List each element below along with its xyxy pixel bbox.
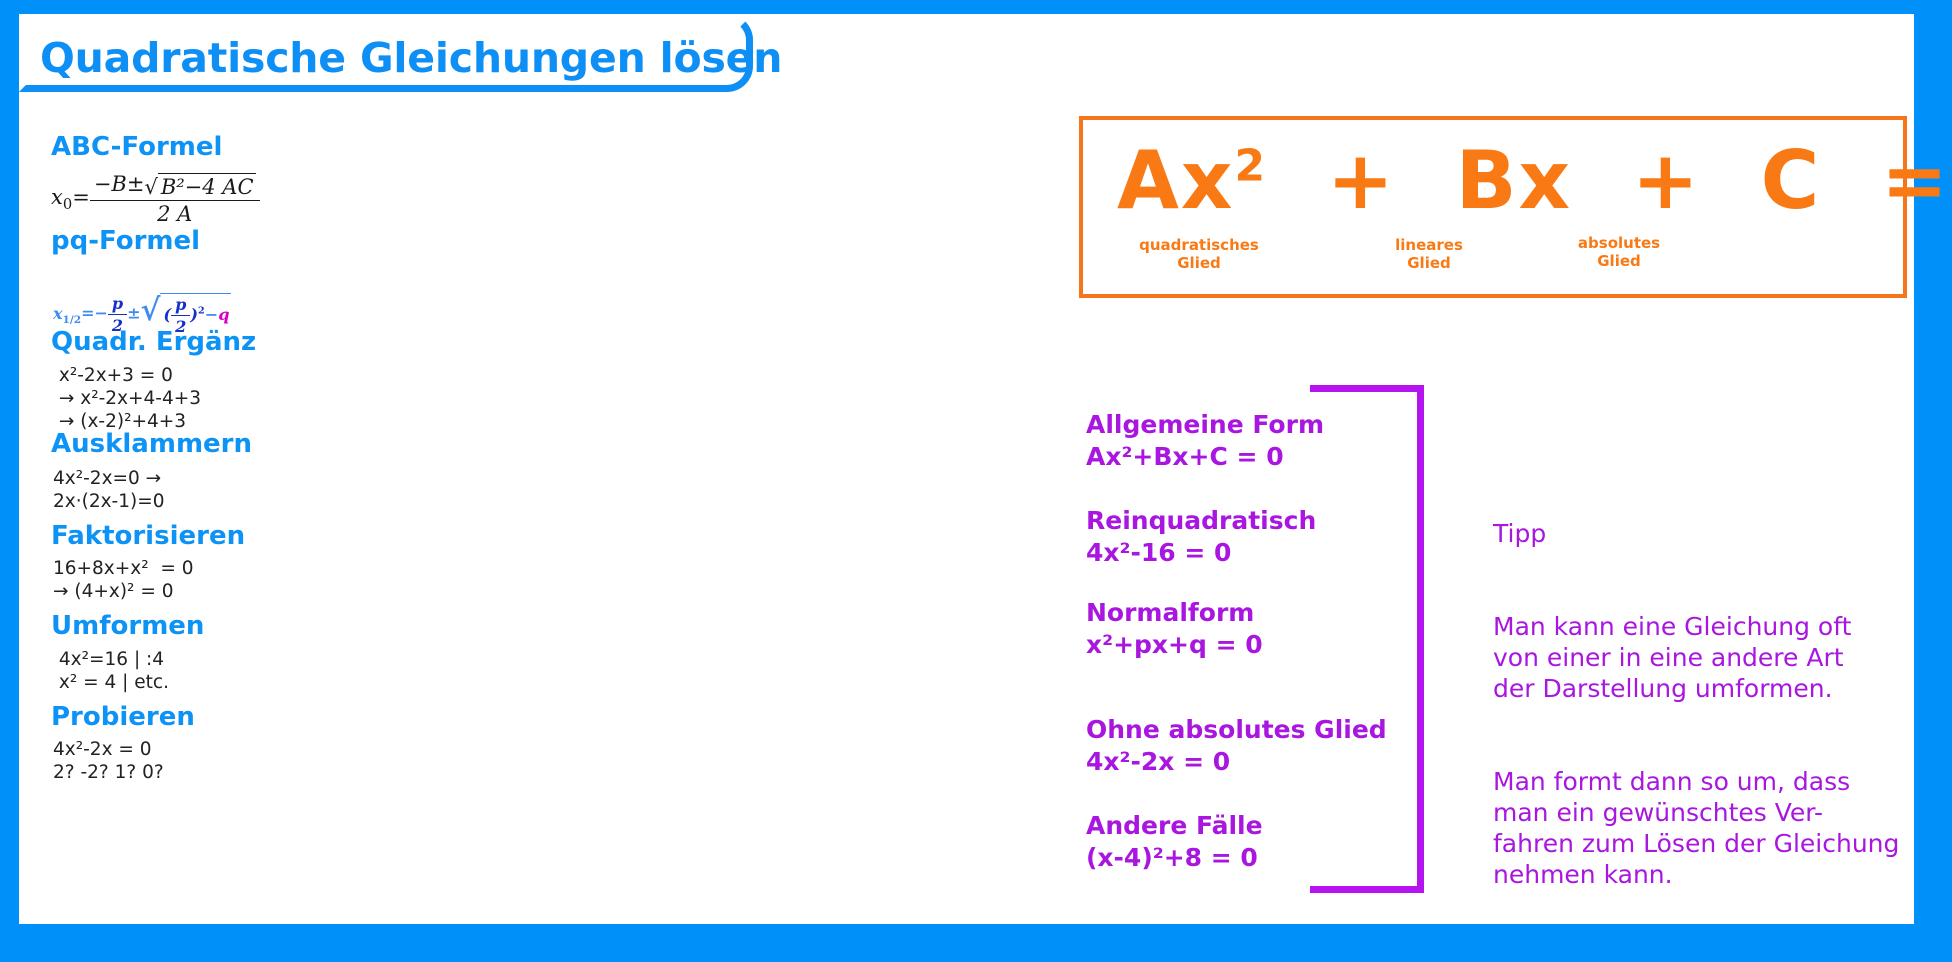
section-heading-umformen: Umformen	[51, 611, 204, 641]
poster-canvas: Quadratische Gleichungen lösen ABC-Forme…	[19, 14, 1914, 924]
section-heading-abc-formel: ABC-Formel	[51, 132, 222, 162]
label-absolutes-glied: absolutes Glied	[1519, 234, 1719, 270]
section-heading-ausklammern: Ausklammern	[51, 429, 252, 459]
pq-equals: =	[81, 304, 94, 323]
section-heading-pq-formel: pq-Formel	[51, 226, 200, 256]
pq-sign: −	[94, 304, 107, 323]
pq-lhs: x1/2	[53, 304, 81, 323]
section-body-quadr-ergaenz: x²-2x+3 = 0 → x²-2x+4-4+3 → (x-2)²+4+3	[53, 364, 201, 433]
tipp-paragraph-2: Man formt dann so um, dass man ein gewün…	[1493, 766, 1933, 890]
form-equation: 4x²-2x = 0	[1086, 746, 1387, 778]
page-title: Quadratische Gleichungen lösen	[40, 34, 782, 82]
tipp-title: Tipp	[1493, 518, 1933, 549]
form-item-allgemeine-form: Allgemeine Form Ax²+Bx+C = 0	[1086, 409, 1324, 473]
abc-formula: x0=−B±√B²−4 AC2 A	[51, 172, 260, 226]
form-equation: x²+px+q = 0	[1086, 629, 1263, 661]
form-equation: 4x²-16 = 0	[1086, 537, 1316, 569]
label-quadratisches-glied: quadratisches Glied	[1079, 236, 1319, 272]
form-title: Normalform	[1086, 597, 1263, 629]
general-form-equation: Ax2 + Bx + C = 0	[1117, 134, 1877, 227]
form-equation: Ax²+Bx+C = 0	[1086, 441, 1324, 473]
pq-plusminus: ±	[127, 304, 140, 323]
form-title: Ohne absolutes Glied	[1086, 714, 1387, 746]
section-body-probieren: 4x²-2x = 0 2? -2? 1? 0?	[53, 738, 164, 784]
abc-equals: =	[72, 185, 90, 209]
abc-numerator: −B±√B²−4 AC	[90, 172, 260, 201]
poster-page: Quadratische Gleichungen lösen ABC-Forme…	[0, 0, 1952, 962]
form-item-reinquadratisch: Reinquadratisch 4x²-16 = 0	[1086, 505, 1316, 569]
abc-fraction: −B±√B²−4 AC2 A	[90, 172, 260, 226]
pq-q: q	[218, 305, 229, 324]
sqrt-icon: √B²−4 AC	[144, 173, 255, 199]
form-title: Allgemeine Form	[1086, 409, 1324, 441]
tipp-block: Tipp Man kann eine Gleichung oft von ein…	[1493, 487, 1933, 952]
form-item-normalform: Normalform x²+px+q = 0	[1086, 597, 1263, 661]
tipp-paragraph-1: Man kann eine Gleichung oft von einer in…	[1493, 611, 1933, 704]
abc-denominator: 2 A	[90, 201, 260, 226]
forms-bracket	[1310, 385, 1424, 893]
title-box: Quadratische Gleichungen lösen	[19, 14, 753, 92]
section-body-faktorisieren: 16+8x+x² = 0 → (4+x)² = 0	[53, 557, 194, 603]
label-lineares-glied: lineares Glied	[1329, 236, 1529, 272]
pq-p-2: p	[171, 295, 190, 316]
abc-lhs: x0	[51, 185, 72, 209]
pq-p-1: p	[108, 294, 127, 315]
form-title: Andere Fälle	[1086, 810, 1263, 842]
section-body-ausklammern: 4x²-2x=0 → 2x·(2x-1)=0	[53, 467, 164, 513]
form-title: Reinquadratisch	[1086, 505, 1316, 537]
form-equation: (x-4)²+8 = 0	[1086, 842, 1263, 874]
section-heading-quadr-ergaenz: Quadr. Ergänz	[51, 327, 256, 357]
section-heading-faktorisieren: Faktorisieren	[51, 521, 245, 551]
form-item-andere-faelle: Andere Fälle (x-4)²+8 = 0	[1086, 810, 1263, 874]
section-heading-probieren: Probieren	[51, 702, 195, 732]
form-item-ohne-absolutes-glied: Ohne absolutes Glied 4x²-2x = 0	[1086, 714, 1387, 778]
section-body-umformen: 4x²=16 | :4 x² = 4 | etc.	[53, 648, 169, 694]
